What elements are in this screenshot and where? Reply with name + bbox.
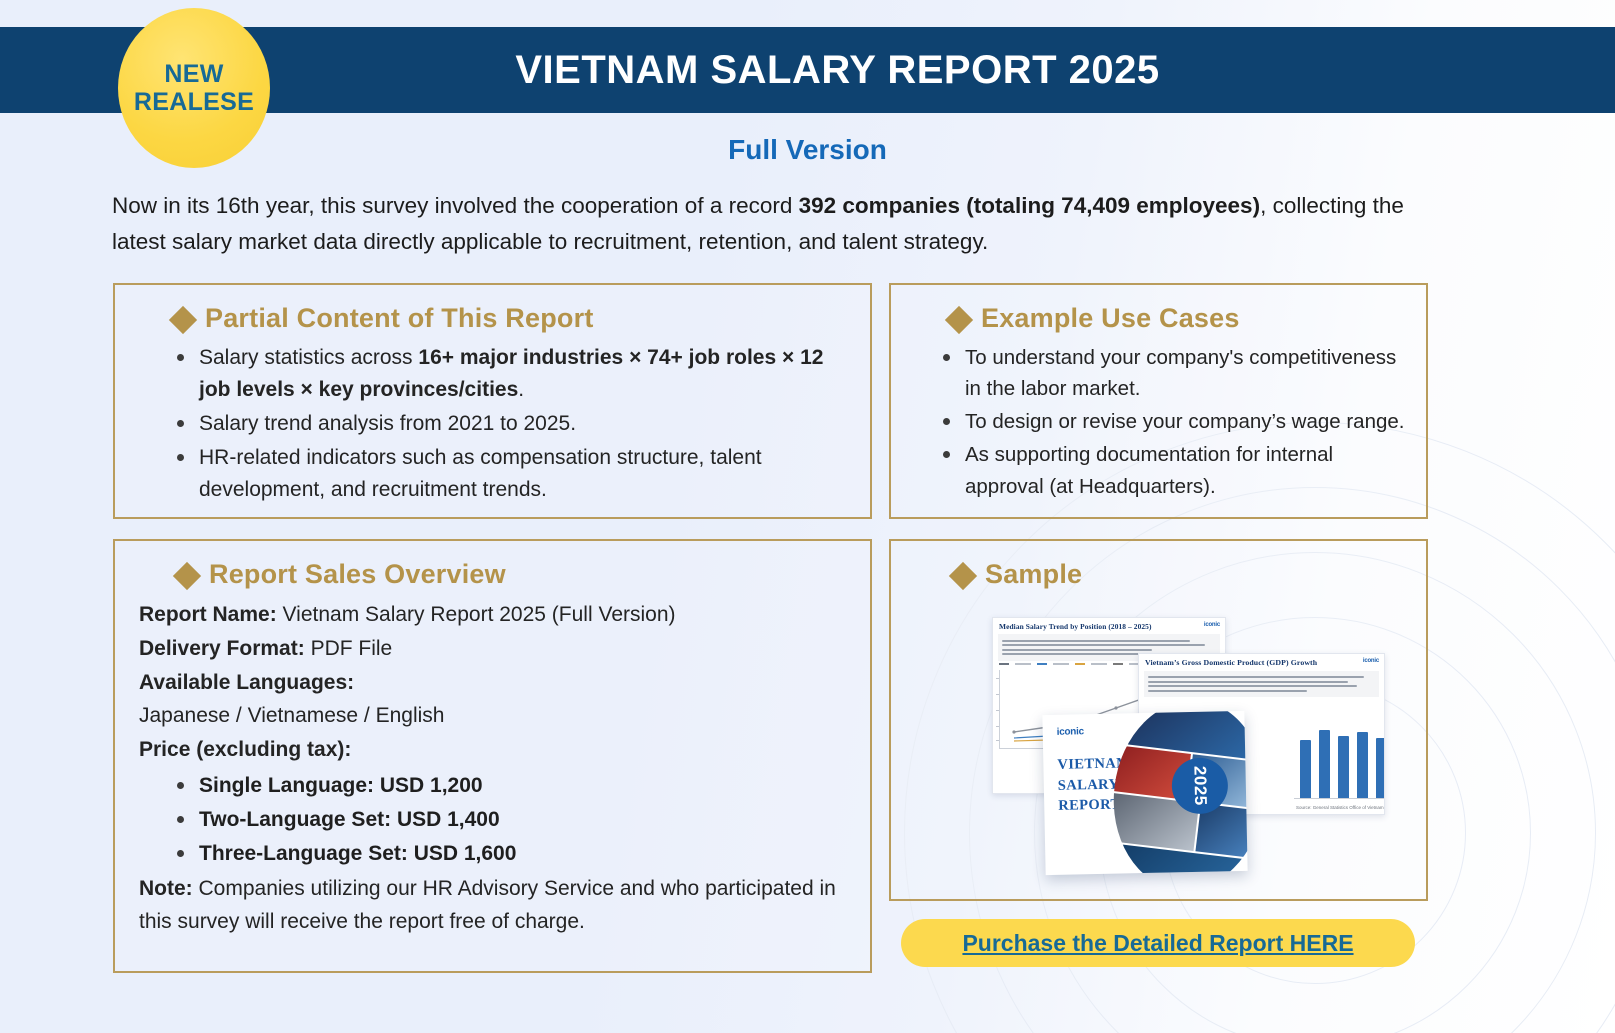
intro-part-1: Now in its 16th year, this survey involv…: [112, 193, 799, 218]
card-header: Sample: [891, 541, 1426, 596]
sample-chart-caption: Source: General Statistics Office of Vie…: [1296, 805, 1384, 810]
list-item: As supporting documentation for internal…: [939, 439, 1406, 501]
card-header: Partial Content of This Report: [115, 285, 870, 340]
card-partial-content: Partial Content of This Report Salary st…: [113, 283, 872, 519]
report-cover-mockup: iconic VIETNAM SALARY REPORT 2025: [1042, 711, 1247, 875]
bullet-text: HR-related indicators such as compensati…: [199, 446, 762, 501]
list-item: Salary statistics across 16+ major indus…: [173, 342, 850, 406]
price-label: Price (excluding tax):: [139, 738, 351, 761]
note-value: Companies utilizing our HR Advisory Serv…: [139, 877, 836, 933]
new-release-badge: NEW REALESE: [118, 8, 270, 168]
list-item: HR-related indicators such as compensati…: [173, 442, 850, 506]
note-label: Note:: [139, 877, 193, 900]
card-report-sales-overview: Report Sales Overview Report Name: Vietn…: [113, 539, 872, 973]
list-item: To design or revise your company’s wage …: [939, 406, 1406, 437]
languages-label: Available Languages:: [139, 671, 354, 694]
sample-bar-chart: Source: General Statistics Office of Vie…: [1294, 712, 1385, 812]
card-title: Sample: [985, 559, 1082, 590]
list-item: Three-Language Set: USD 1,600: [175, 837, 852, 871]
sample-doc-title: Vietnam’s Gross Domestic Product (GDP) G…: [1139, 654, 1384, 671]
languages-value-row: Japanese / Vietnamese / English: [139, 700, 852, 733]
price-label-row: Price (excluding tax):: [139, 734, 852, 767]
sample-doc-title: Median Salary Trend by Position (2018 – …: [993, 618, 1225, 634]
poster-page: VIETNAM SALARY REPORT 2025 NEW REALESE F…: [0, 0, 1615, 1033]
bullet-text-pre: Salary statistics across: [199, 346, 418, 369]
intro-highlight: 392 companies (totaling 74,409 employees…: [799, 193, 1260, 218]
card-header: Report Sales Overview: [115, 541, 870, 596]
report-name-value: Vietnam Salary Report 2025 (Full Version…: [277, 603, 676, 626]
note-row: Note: Companies utilizing our HR Advisor…: [139, 873, 852, 939]
report-name-row: Report Name: Vietnam Salary Report 2025 …: [139, 599, 852, 632]
report-name-label: Report Name:: [139, 603, 277, 626]
usecases-bullet-list: To understand your company's competitive…: [891, 342, 1426, 502]
iconic-logo: iconic: [1363, 658, 1379, 664]
iconic-logo: iconic: [1204, 622, 1220, 628]
content-bullet-list: Salary statistics across 16+ major indus…: [115, 342, 870, 506]
intro-paragraph: Now in its 16th year, this survey involv…: [112, 188, 1432, 261]
diamond-icon: [949, 561, 977, 589]
list-item: To understand your company's competitive…: [939, 342, 1406, 404]
diamond-icon: [945, 305, 973, 333]
badge-line-2: REALESE: [134, 88, 254, 116]
page-title: VIETNAM SALARY REPORT 2025: [515, 48, 1159, 93]
diamond-icon: [169, 305, 197, 333]
delivery-format-row: Delivery Format: PDF File: [139, 633, 852, 666]
sales-details: Report Name: Vietnam Salary Report 2025 …: [115, 596, 870, 938]
card-example-use-cases: Example Use Cases To understand your com…: [889, 283, 1428, 519]
list-item: Salary trend analysis from 2021 to 2025.: [173, 408, 850, 440]
purchase-button-label: Purchase the Detailed Report HERE: [962, 930, 1353, 957]
price-list: Single Language: USD 1,200 Two-Language …: [139, 769, 852, 871]
sample-preview-stage: iconic Median Salary Trend by Position (…: [986, 609, 1386, 874]
list-item: Two-Language Set: USD 1,400: [175, 803, 852, 837]
list-item: Single Language: USD 1,200: [175, 769, 852, 803]
bullet-text-post: .: [518, 378, 524, 401]
badge-line-1: NEW: [164, 60, 223, 88]
sample-doc-bullets: [1144, 671, 1379, 698]
languages-label-row: Available Languages:: [139, 667, 852, 700]
card-title: Partial Content of This Report: [205, 303, 594, 334]
delivery-format-label: Delivery Format:: [139, 637, 305, 660]
card-header: Example Use Cases: [891, 285, 1426, 340]
purchase-report-button[interactable]: Purchase the Detailed Report HERE: [901, 919, 1415, 967]
delivery-format-value: PDF File: [305, 637, 393, 660]
cover-year-text: 2025: [1189, 766, 1210, 806]
card-title: Report Sales Overview: [209, 559, 506, 590]
card-sample: Sample iconic Median Salary Trend by Pos…: [889, 539, 1428, 901]
iconic-logo: iconic: [1057, 726, 1084, 738]
card-title: Example Use Cases: [981, 303, 1240, 334]
diamond-icon: [173, 561, 201, 589]
bullet-text: Salary trend analysis from 2021 to 2025.: [199, 412, 576, 435]
